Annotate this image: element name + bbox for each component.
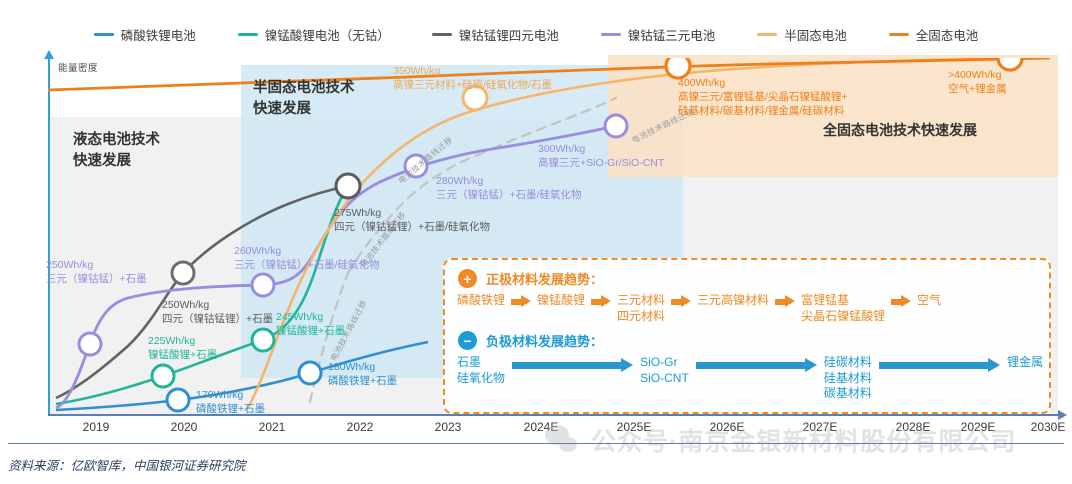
point-value-275-quad: 275Wh/kg bbox=[334, 206, 490, 220]
point-material-250-ncm: 三元（镍钴锰）+石墨 bbox=[46, 272, 147, 286]
point-material-180-lfp: 磷酸铁锂+石墨 bbox=[328, 374, 397, 388]
x-tick-2028E: 2028E bbox=[896, 420, 931, 434]
point-material-300-ncm: 高镍三元+SiO-Gr/SiO-CNT bbox=[538, 156, 664, 170]
cathode-step-3-line1: 三元材料 bbox=[617, 293, 665, 309]
point-label-250-quad: 250Wh/kg 四元（镍钴锰锂）+石墨 bbox=[162, 298, 273, 326]
point-label-260-ncm: 260Wh/kg 三元（镍钴锰）+石墨/硅氧化物 bbox=[234, 244, 380, 272]
anode-step-3-line3: 碳基材料 bbox=[824, 386, 872, 402]
point-material-275-quad: 四元（镍钴锰锂）+石墨/硅氧化物 bbox=[334, 220, 490, 234]
x-tick-2025E: 2025E bbox=[617, 420, 652, 434]
anode-step-2-line1: SiO-Gr bbox=[640, 355, 689, 371]
point-material-400-allsolid-line1: 高镍三元/富锂锰基/尖晶石镍锰酸锂+ bbox=[678, 90, 847, 104]
minus-icon: − bbox=[458, 331, 477, 350]
point-label-170-lfp: 170Wh/kg 磷酸铁锂+石墨 bbox=[196, 388, 265, 416]
region-label-allsolid: 全固态电池技术快速发展 bbox=[823, 120, 977, 140]
marker-180-lfp bbox=[299, 362, 321, 384]
anode-trend-title: 负极材料发展趋势： bbox=[486, 331, 603, 350]
material-trend-box: + 正极材料发展趋势： 磷酸铁锂 镍锰酸锂 三元材料 四元材料 三元高镍材料 bbox=[443, 258, 1051, 414]
point-label-225-lnmo: 225Wh/kg 镍锰酸锂+石墨 bbox=[148, 334, 217, 362]
legend-item-lfp[interactable]: 磷酸铁锂电池 bbox=[94, 25, 196, 44]
anode-step-3-line1: 硅碳材料 bbox=[824, 355, 872, 371]
point-label-400plus-allsolid: >400Wh/kg 空气+锂金属 bbox=[948, 68, 1007, 96]
region-label-liquid-line2: 快速发展 bbox=[73, 151, 160, 172]
anode-trend-header: − 负极材料发展趋势： bbox=[458, 331, 603, 350]
footer-divider bbox=[8, 443, 1064, 444]
point-material-400-allsolid-line2: 硅基材料/碳基材料/锂金属/硅碳材料 bbox=[678, 104, 847, 118]
marker-225-lnmo bbox=[152, 365, 174, 387]
source-note: 资料来源：亿欧智库，中国银河证券研究院 bbox=[8, 455, 246, 474]
x-tick-2022: 2022 bbox=[347, 420, 374, 434]
point-value-225-lnmo: 225Wh/kg bbox=[148, 334, 217, 348]
x-tick-2029E: 2029E bbox=[961, 420, 996, 434]
point-value-280-ncm: 280Wh/kg bbox=[436, 174, 582, 188]
cathode-flow: 磷酸铁锂 镍锰酸锂 三元材料 四元材料 三元高镍材料 富锂锰基 尖晶石镍锰酸锂 bbox=[457, 293, 1043, 324]
x-tick-2030E: 2030E bbox=[1031, 420, 1066, 434]
anode-step-4-line1: 锂金属 bbox=[1007, 355, 1043, 371]
point-value-170-lfp: 170Wh/kg bbox=[196, 388, 265, 402]
point-value-180-lfp: 180Wh/kg bbox=[328, 360, 397, 374]
legend-label-allsolid: 全固态电池 bbox=[916, 25, 979, 44]
cathode-step-6: 空气 bbox=[917, 293, 941, 309]
marker-400-allsolid bbox=[666, 58, 690, 78]
marker-275-quad bbox=[336, 174, 360, 198]
point-value-400-allsolid: 400Wh/kg bbox=[678, 76, 847, 90]
point-material-170-lfp: 磷酸铁锂+石墨 bbox=[196, 402, 265, 416]
region-label-allsolid-line1: 全固态电池技术快速发展 bbox=[823, 120, 977, 140]
point-material-400plus-allsolid: 空气+锂金属 bbox=[948, 82, 1007, 96]
point-value-250-ncm: 250Wh/kg bbox=[46, 258, 147, 272]
region-label-liquid-line1: 液态电池技术 bbox=[73, 130, 160, 151]
region-label-semisolid-line1: 半固态电池技术 bbox=[253, 78, 355, 99]
region-label-semisolid-line2: 快速发展 bbox=[253, 99, 355, 120]
chart-root: 磷酸铁锂电池 镍锰酸锂电池（无钴） 镍钴锰锂四元电池 镍钴锰三元电池 半固态电池… bbox=[0, 0, 1072, 484]
point-label-350-semisolid: 350Wh/kg 高镍三元材料+硅碳/硅氧化物/石墨 bbox=[393, 64, 552, 92]
x-axis-ticks: 2019 2020 2021 2022 2023 2024E 2025E 202… bbox=[48, 420, 1058, 438]
arrow-long-right-icon-1 bbox=[512, 359, 633, 371]
marker-250-ncm bbox=[79, 333, 101, 355]
anode-step-3-line2: 硅基材料 bbox=[824, 371, 872, 387]
anode-flow: 石墨 硅氧化物 SiO-Gr SiO-CNT 硅碳材料 硅基材料 碳基材料 锂金… bbox=[457, 355, 1043, 402]
region-label-semisolid: 半固态电池技术 快速发展 bbox=[253, 78, 355, 120]
legend-swatch-quaternary bbox=[432, 33, 452, 36]
x-tick-2027E: 2027E bbox=[803, 420, 838, 434]
point-material-260-ncm: 三元（镍钴锰）+石墨/硅氧化物 bbox=[234, 258, 380, 272]
marker-260-ncm bbox=[252, 274, 274, 296]
legend-label-lnmo: 镍锰酸锂电池（无钴） bbox=[265, 25, 390, 44]
cathode-step-2-line1: 镍锰酸锂 bbox=[537, 293, 585, 309]
point-material-250-quad: 四元（镍钴锰锂）+石墨 bbox=[162, 312, 273, 326]
marker-170-lfp bbox=[167, 389, 189, 411]
arrow-right-icon-2 bbox=[591, 295, 611, 308]
cathode-step-1-line1: 磷酸铁锂 bbox=[457, 293, 505, 309]
anode-step-1-line1: 石墨 bbox=[457, 355, 505, 371]
marker-250-quad bbox=[172, 262, 194, 284]
point-value-250-quad: 250Wh/kg bbox=[162, 298, 273, 312]
point-label-180-lfp: 180Wh/kg 磷酸铁锂+石墨 bbox=[328, 360, 397, 388]
cathode-step-3: 三元材料 四元材料 bbox=[617, 293, 665, 324]
x-tick-2026E: 2026E bbox=[710, 420, 745, 434]
arrow-right-icon-4 bbox=[775, 295, 795, 308]
cathode-step-3-line2: 四元材料 bbox=[617, 309, 665, 325]
point-material-225-lnmo: 镍锰酸锂+石墨 bbox=[148, 348, 217, 362]
point-label-245-lnmo: 245Wh/kg 镍锰酸锂+石墨 bbox=[276, 310, 345, 338]
cathode-trend-title: 正极材料发展趋势： bbox=[486, 269, 603, 288]
point-material-280-ncm: 三元（镍钴锰）+石墨/硅氧化物 bbox=[436, 188, 582, 202]
anode-step-2: SiO-Gr SiO-CNT bbox=[640, 355, 689, 386]
point-value-350-semisolid: 350Wh/kg bbox=[393, 64, 552, 78]
x-tick-2021: 2021 bbox=[259, 420, 286, 434]
point-material-350-semisolid: 高镍三元材料+硅碳/硅氧化物/石墨 bbox=[393, 78, 552, 92]
cathode-step-5-line1: 富锂锰基 bbox=[801, 293, 885, 309]
legend-item-ncm[interactable]: 镍钴锰三元电池 bbox=[601, 25, 716, 44]
cathode-step-1: 磷酸铁锂 bbox=[457, 293, 505, 309]
legend-label-quaternary: 镍钴锰锂四元电池 bbox=[459, 25, 559, 44]
arrow-long-right-icon-2 bbox=[696, 359, 817, 371]
legend-item-quaternary[interactable]: 镍钴锰锂四元电池 bbox=[432, 25, 559, 44]
plus-icon: + bbox=[458, 269, 477, 288]
point-label-300-ncm: 300Wh/kg 高镍三元+SiO-Gr/SiO-CNT bbox=[538, 142, 664, 170]
legend-item-allsolid[interactable]: 全固态电池 bbox=[889, 25, 979, 44]
cathode-step-6-line1: 空气 bbox=[917, 293, 941, 309]
arrow-right-icon-1 bbox=[511, 295, 531, 308]
chart-legend: 磷酸铁锂电池 镍锰酸锂电池（无钴） 镍钴锰锂四元电池 镍钴锰三元电池 半固态电池… bbox=[0, 22, 1072, 46]
cathode-step-5: 富锂锰基 尖晶石镍锰酸锂 bbox=[801, 293, 885, 324]
arrow-long-right-icon-3 bbox=[879, 359, 1000, 371]
cathode-step-4-line1: 三元高镍材料 bbox=[697, 293, 769, 309]
marker-245-lnmo bbox=[252, 329, 274, 351]
legend-label-semisolid: 半固态电池 bbox=[784, 25, 847, 44]
point-value-300-ncm: 300Wh/kg bbox=[538, 142, 664, 156]
point-value-245-lnmo: 245Wh/kg bbox=[276, 310, 345, 324]
x-tick-2024E: 2024E bbox=[524, 420, 559, 434]
point-value-260-ncm: 260Wh/kg bbox=[234, 244, 380, 258]
anode-step-1: 石墨 硅氧化物 bbox=[457, 355, 505, 386]
cathode-step-4: 三元高镍材料 bbox=[697, 293, 769, 309]
anode-step-1-line2: 硅氧化物 bbox=[457, 371, 505, 387]
cathode-step-5-line2: 尖晶石镍锰酸锂 bbox=[801, 309, 885, 325]
anode-step-4: 锂金属 bbox=[1007, 355, 1043, 371]
x-tick-2023: 2023 bbox=[435, 420, 462, 434]
legend-item-lnmo[interactable]: 镍锰酸锂电池（无钴） bbox=[238, 25, 390, 44]
cathode-trend-header: + 正极材料发展趋势： bbox=[458, 269, 603, 288]
arrow-right-icon-5 bbox=[891, 295, 911, 308]
arrow-right-icon-3 bbox=[671, 295, 691, 308]
anode-step-3: 硅碳材料 硅基材料 碳基材料 bbox=[824, 355, 872, 402]
cathode-step-2: 镍锰酸锂 bbox=[537, 293, 585, 309]
legend-swatch-lfp bbox=[94, 33, 114, 36]
region-label-liquid: 液态电池技术 快速发展 bbox=[73, 130, 160, 172]
point-label-280-ncm: 280Wh/kg 三元（镍钴锰）+石墨/硅氧化物 bbox=[436, 174, 582, 202]
x-tick-2020: 2020 bbox=[171, 420, 198, 434]
x-tick-2019: 2019 bbox=[83, 420, 110, 434]
legend-swatch-allsolid bbox=[889, 33, 909, 36]
legend-item-semisolid[interactable]: 半固态电池 bbox=[757, 25, 847, 44]
legend-label-ncm: 镍钴锰三元电池 bbox=[628, 25, 716, 44]
point-label-400-allsolid: 400Wh/kg 高镍三元/富锂锰基/尖晶石镍锰酸锂+ 硅基材料/碳基材料/锂金… bbox=[678, 76, 847, 119]
legend-swatch-semisolid bbox=[757, 33, 777, 36]
point-value-400plus-allsolid: >400Wh/kg bbox=[948, 68, 1007, 82]
legend-swatch-ncm bbox=[601, 33, 621, 36]
anode-step-2-line2: SiO-CNT bbox=[640, 371, 689, 387]
legend-label-lfp: 磷酸铁锂电池 bbox=[121, 25, 196, 44]
point-material-245-lnmo: 镍锰酸锂+石墨 bbox=[276, 324, 345, 338]
marker-300-ncm bbox=[605, 115, 627, 137]
point-label-275-quad: 275Wh/kg 四元（镍钴锰锂）+石墨/硅氧化物 bbox=[334, 206, 490, 234]
legend-swatch-lnmo bbox=[238, 33, 258, 36]
point-label-250-ncm: 250Wh/kg 三元（镍钴锰）+石墨 bbox=[46, 258, 147, 286]
